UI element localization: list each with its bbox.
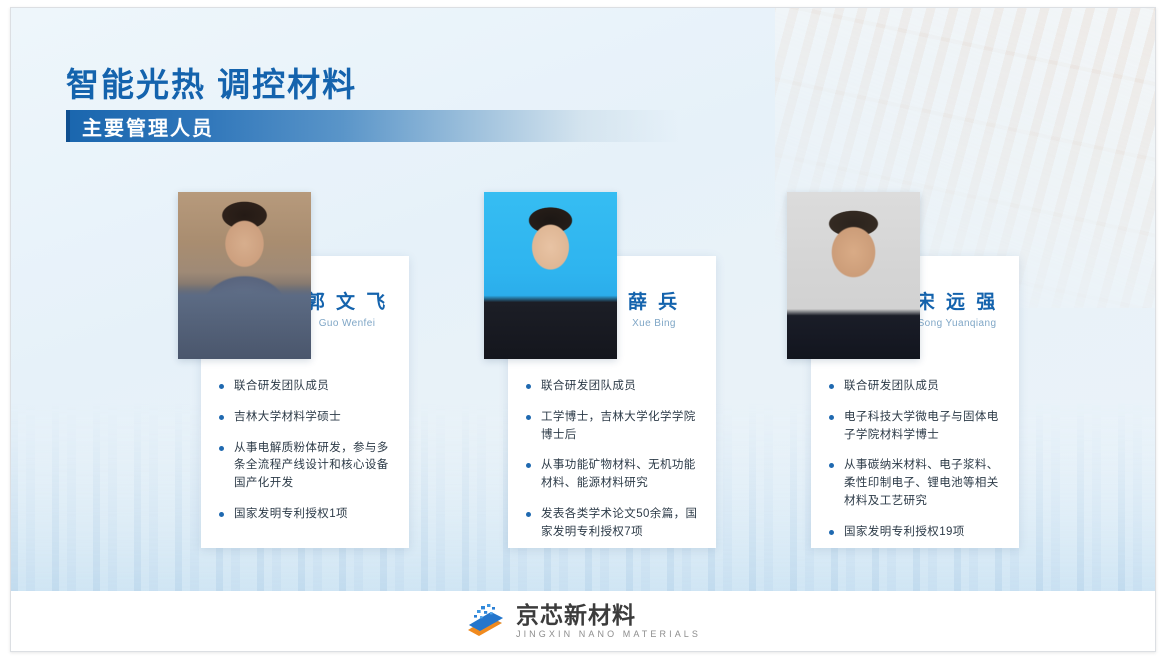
list-item: 电子科技大学微电子与固体电子学院材料学博士 <box>829 409 1005 445</box>
jingxin-logo-icon <box>465 604 505 637</box>
person-name: 宋 远 强 <box>909 292 1005 315</box>
person-bullet-list: 联合研发团队成员 电子科技大学微电子与固体电子学院材料学博士 从事碳纳米材料、电… <box>829 378 1005 555</box>
person-identity: 郭 文 飞 Guo Wenfei <box>299 292 395 329</box>
person-name: 郭 文 飞 <box>299 292 395 315</box>
slide-frame: 智能光热 调控材料 主要管理人员 郭 文 飞 Guo Wenfei 联合研发团队… <box>10 7 1156 652</box>
list-item: 发表各类学术论文50余篇，国家发明专利授权7项 <box>526 506 702 542</box>
list-item: 联合研发团队成员 <box>219 378 395 396</box>
person-photo <box>484 192 617 359</box>
list-item: 联合研发团队成员 <box>829 378 1005 396</box>
brand-name-cn: 京芯新材料 <box>516 603 701 627</box>
list-item: 联合研发团队成员 <box>526 378 702 396</box>
page-title: 智能光热 调控材料 <box>66 58 357 106</box>
person-bullet-list: 联合研发团队成员 工学博士，吉林大学化学学院博士后 从事功能矿物材料、无机功能材… <box>526 378 702 555</box>
person-pinyin: Xue Bing <box>606 318 702 329</box>
footer-band: 京芯新材料 JINGXIN NANO MATERIALS <box>11 591 1155 651</box>
person-pinyin: Guo Wenfei <box>299 318 395 329</box>
list-item: 国家发明专利授权19项 <box>829 524 1005 542</box>
brand-name-en: JINGXIN NANO MATERIALS <box>516 629 701 639</box>
person-pinyin: Song Yuanqiang <box>909 318 1005 329</box>
brand-text: 京芯新材料 JINGXIN NANO MATERIALS <box>516 603 701 639</box>
brand-lockup: 京芯新材料 JINGXIN NANO MATERIALS <box>465 603 701 639</box>
person-photo <box>178 192 311 359</box>
list-item: 吉林大学材料学硕士 <box>219 409 395 427</box>
slide-stage: 智能光热 调控材料 主要管理人员 郭 文 飞 Guo Wenfei 联合研发团队… <box>11 8 1155 591</box>
section-banner-label: 主要管理人员 <box>66 112 214 141</box>
person-name: 薛 兵 <box>606 292 702 315</box>
list-item: 从事碳纳米材料、电子浆料、柔性印制电子、锂电池等相关材料及工艺研究 <box>829 457 1005 510</box>
list-item: 从事功能矿物材料、无机功能材料、能源材料研究 <box>526 457 702 493</box>
list-item: 从事电解质粉体研发，参与多条全流程产线设计和核心设备国产化开发 <box>219 440 395 493</box>
person-bullet-list: 联合研发团队成员 吉林大学材料学硕士 从事电解质粉体研发，参与多条全流程产线设计… <box>219 378 395 537</box>
person-identity: 薛 兵 Xue Bing <box>606 292 702 329</box>
person-identity: 宋 远 强 Song Yuanqiang <box>909 292 1005 329</box>
list-item: 国家发明专利授权1项 <box>219 506 395 524</box>
list-item: 工学博士，吉林大学化学学院博士后 <box>526 409 702 445</box>
person-photo <box>787 192 920 359</box>
section-banner: 主要管理人员 <box>66 110 681 142</box>
